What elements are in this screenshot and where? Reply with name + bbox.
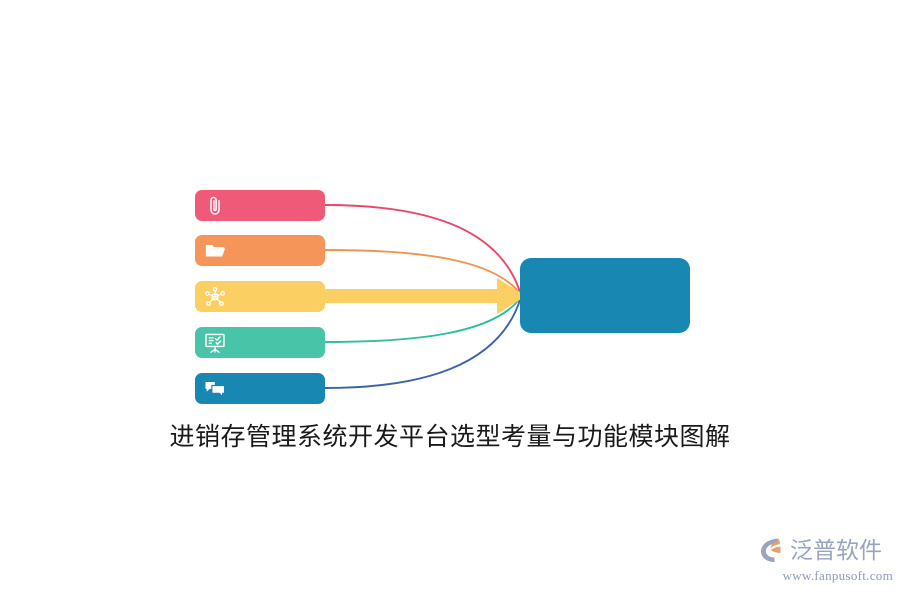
presentation-board-icon (204, 332, 226, 354)
connector-arrow-network (322, 278, 526, 314)
diagram-node-presentation[interactable] (195, 327, 325, 358)
logo-wordmark: 泛普软件 (790, 539, 882, 562)
chat-bubbles-icon (204, 378, 226, 400)
diagram-node-folder[interactable] (195, 235, 325, 266)
connector-line-folder (325, 250, 521, 295)
connector-line-presentation (325, 297, 521, 342)
logo-url: www.fanpusoft.com (758, 568, 893, 584)
screenshot-canvas: 进销存管理系统开发平台选型考量与功能模块图解 泛普软件 www.fanpusof… (0, 0, 900, 600)
page-title: 进销存管理系统开发平台选型考量与功能模块图解 (0, 417, 900, 453)
diagram-node-chat[interactable] (195, 373, 325, 404)
fanpu-logo-icon (758, 535, 788, 565)
paperclip-icon (204, 195, 226, 217)
brand-logo: 泛普软件 www.fanpusoft.com (758, 533, 893, 585)
logo-row: 泛普软件 (758, 533, 893, 567)
diagram-hub-box[interactable] (520, 258, 690, 333)
folder-icon (204, 240, 226, 262)
diagram-figure (0, 0, 900, 420)
network-nodes-icon (204, 286, 226, 308)
diagram-node-network[interactable] (195, 281, 325, 312)
connector-lines (0, 0, 900, 420)
diagram-node-attachment[interactable] (195, 190, 325, 221)
